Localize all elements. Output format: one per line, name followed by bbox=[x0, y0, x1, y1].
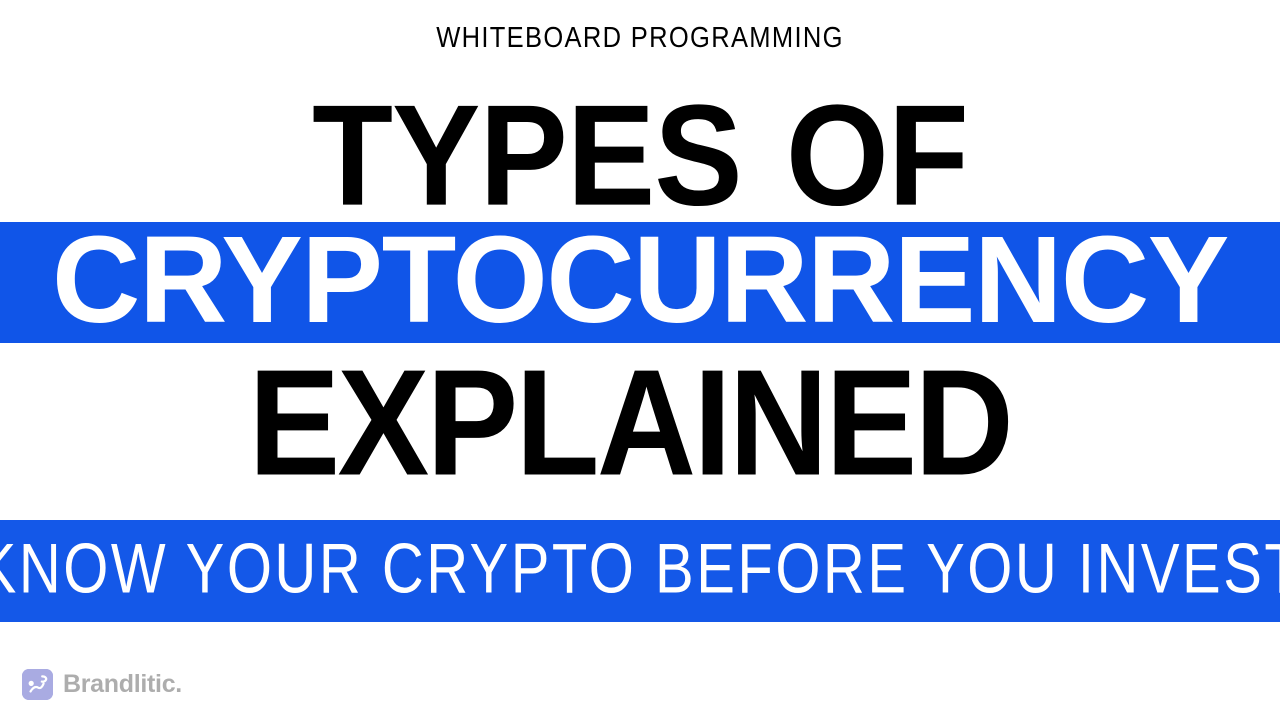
brand-lockup: Brandlitic. bbox=[22, 669, 182, 700]
headline-word-cryptocurrency: CRYPTOCURRENCY bbox=[52, 222, 1228, 342]
subtitle-text: KNOW YOUR CRYPTO BEFORE YOU INVEST bbox=[0, 534, 1280, 605]
headline-line-1: TYPESOF bbox=[26, 84, 1255, 228]
headline-word-of: OF bbox=[786, 76, 968, 236]
brand-name-label: Brandlitic. bbox=[63, 672, 182, 697]
video-thumbnail: WHITEBOARD PROGRAMMING TYPESOF CRYPTOCUR… bbox=[0, 0, 1280, 720]
subtitle-banner: KNOW YOUR CRYPTO BEFORE YOU INVEST bbox=[0, 520, 1280, 622]
kicker-text: WHITEBOARD PROGRAMMING bbox=[77, 24, 1203, 53]
brandlitic-logo-icon bbox=[22, 669, 53, 700]
headline-word-types: TYPES bbox=[312, 76, 742, 236]
highlight-banner-cryptocurrency: CRYPTOCURRENCY bbox=[0, 222, 1280, 343]
headline-word-explained: EXPLAINED bbox=[45, 348, 1235, 499]
